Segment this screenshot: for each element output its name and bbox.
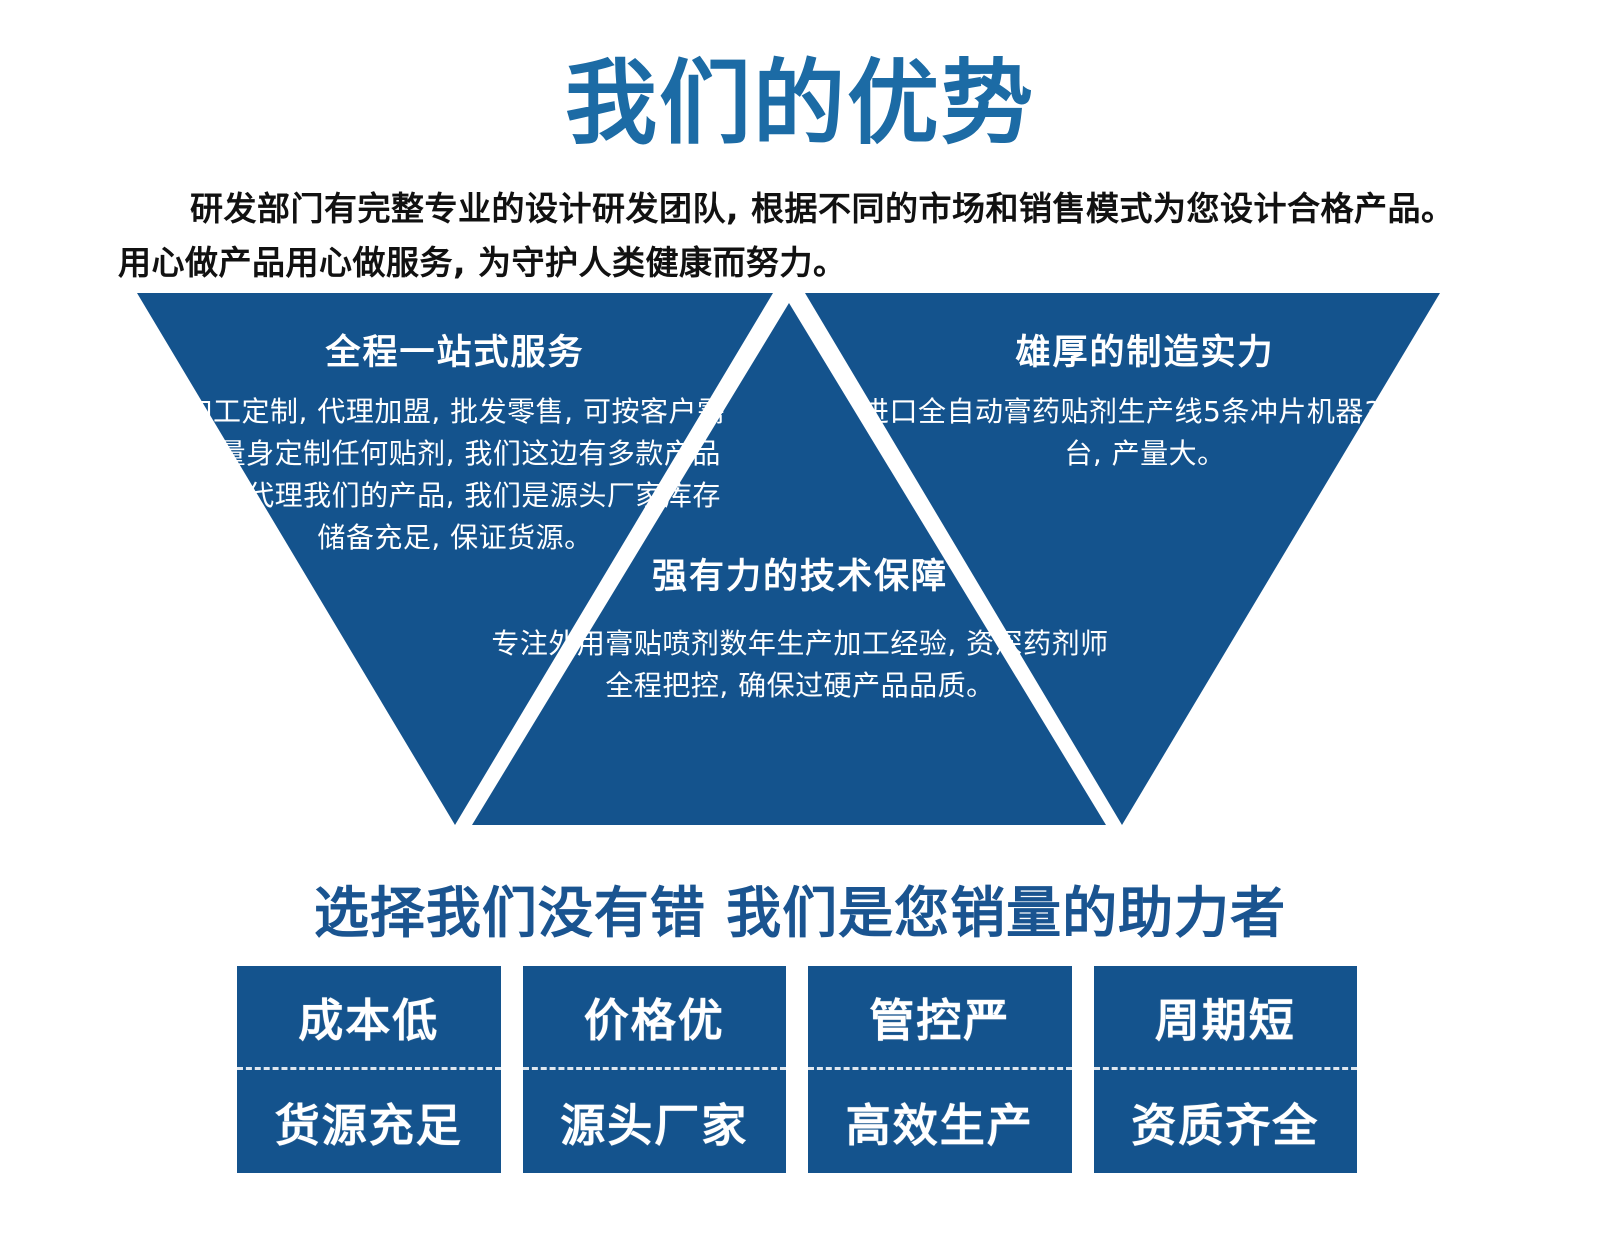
- benefit-box-bottom-label: 货源充足: [237, 1070, 501, 1174]
- page-title: 我们的优势: [0, 52, 1600, 156]
- benefit-box-top-label: 周期短: [1094, 966, 1358, 1070]
- triangle-diagram: 全程一站式服务 加工定制, 代理加盟, 批发零售, 可按客户需求量身定制任何贴剂…: [0, 293, 1600, 828]
- intro-line-2: 用心做产品用心做服务, 为守护人类健康而努力。: [118, 243, 847, 282]
- benefit-box-bottom-label: 源头厂家: [523, 1070, 787, 1174]
- bottom-headline: 选择我们没有错 我们是您销量的助力者: [0, 880, 1600, 946]
- intro-paragraph: 研发部门有完整专业的设计研发团队, 根据不同的市场和销售模式为您设计合格产品。 …: [118, 182, 1493, 290]
- benefit-box-top-label: 成本低: [237, 966, 501, 1070]
- triangle-left-body: 加工定制, 代理加盟, 批发零售, 可按客户需求量身定制任何贴剂, 我们这边有多…: [175, 391, 735, 559]
- benefit-box: 管控严 高效生产: [808, 966, 1072, 1173]
- benefit-box-row: 成本低 货源充足 价格优 源头厂家 管控严 高效生产 周期短 资质齐全: [237, 966, 1357, 1173]
- intro-line-1: 研发部门有完整专业的设计研发团队, 根据不同的市场和销售模式为您设计合格产品。: [190, 189, 1455, 228]
- benefit-box-bottom-label: 高效生产: [808, 1070, 1072, 1174]
- benefit-box: 价格优 源头厂家: [523, 966, 787, 1173]
- benefit-box: 成本低 货源充足: [237, 966, 501, 1173]
- triangle-right-body: 进口全自动膏药贴剂生产线5条冲片机器30余台, 产量大。: [860, 391, 1430, 475]
- benefit-box: 周期短 资质齐全: [1094, 966, 1358, 1173]
- triangle-right-heading: 雄厚的制造实力: [840, 333, 1450, 373]
- triangle-middle-heading: 强有力的技术保障: [480, 557, 1120, 597]
- triangle-middle-body: 专注外用膏贴喷剂数年生产加工经验, 资深药剂师全程把控, 确保过硬产品品质。: [490, 623, 1110, 707]
- triangle-left-heading: 全程一站式服务: [150, 333, 760, 373]
- benefit-box-top-label: 价格优: [523, 966, 787, 1070]
- benefit-box-bottom-label: 资质齐全: [1094, 1070, 1358, 1174]
- benefit-box-top-label: 管控严: [808, 966, 1072, 1070]
